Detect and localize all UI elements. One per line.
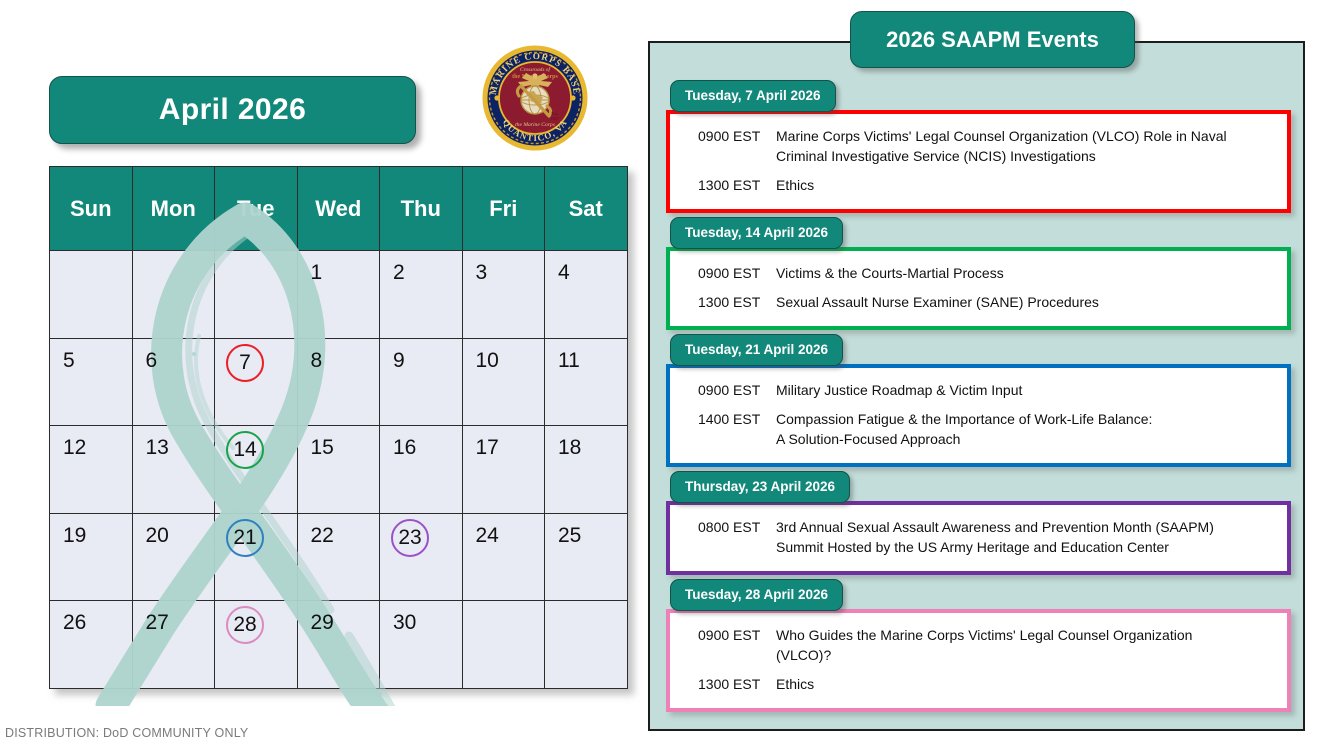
weekday-header-sun: Sun [50, 167, 133, 251]
calendar-week-row: 12131415161718 [50, 426, 628, 514]
event-description-line-2: Summit Hosted by the US Army Heritage an… [776, 537, 1271, 557]
calendar-day-cell[interactable]: 27 [132, 601, 215, 689]
event-description: Sexual Assault Nurse Examiner (SANE) Pro… [776, 292, 1277, 312]
calendar-week-row: 19202122232425 [50, 513, 628, 601]
calendar-day-cell[interactable]: 30 [380, 601, 463, 689]
event-time: 0900 EST [680, 625, 776, 645]
event-row: 0900 ESTWho Guides the Marine Corps Vict… [680, 621, 1277, 670]
calendar-day-cell[interactable]: 26 [50, 601, 133, 689]
calendar-day-number: 18 [558, 434, 581, 462]
calendar-header-row: Sun Mon Tue Wed Thu Fri Sat [50, 167, 628, 251]
event-date-chip[interactable]: Tuesday, 28 April 2026 [670, 579, 843, 611]
calendar-day-cell[interactable]: 29 [297, 601, 380, 689]
distribution-notice: DISTRIBUTION: DoD COMMUNITY ONLY [5, 726, 248, 740]
calendar-day-number: 13 [146, 434, 169, 462]
calendar-day-number: 29 [311, 609, 334, 637]
calendar-day-cell[interactable]: 17 [462, 426, 545, 514]
event-time: 0900 EST [680, 126, 776, 146]
event-row: 0900 ESTVictims & the Courts-Martial Pro… [680, 259, 1277, 288]
event-box: 0800 EST3rd Annual Sexual Assault Awaren… [666, 501, 1291, 575]
calendar-grid: Sun Mon Tue Wed Thu Fri Sat 123456789101… [49, 166, 628, 689]
event-row: 0800 EST3rd Annual Sexual Assault Awaren… [680, 513, 1277, 562]
weekday-header-mon: Mon [132, 167, 215, 251]
marine-corps-base-quantico-seal-icon: MARINE CORPS BASE QUANTICO, VA Crossroad… [479, 42, 591, 154]
event-description-line-1: 3rd Annual Sexual Assault Awareness and … [776, 519, 1214, 535]
month-title-chip: April 2026 [49, 76, 416, 144]
event-box: 0900 ESTMilitary Justice Roadmap & Victi… [666, 364, 1291, 467]
calendar-empty-cell [545, 601, 628, 689]
calendar-day-number: 11 [558, 347, 580, 375]
calendar-day-number: 20 [146, 522, 169, 550]
calendar-day-cell[interactable]: 28 [215, 601, 298, 689]
calendar-day-number: 30 [393, 609, 416, 637]
calendar-day-number: 24 [476, 522, 499, 550]
calendar-day-cell[interactable]: 4 [545, 251, 628, 339]
calendar-day-number: 5 [63, 347, 75, 375]
calendar-day-cell[interactable]: 25 [545, 513, 628, 601]
event-group: Tuesday, 14 April 20260900 ESTVictims & … [666, 217, 1291, 330]
svg-text:1917: 1917 [551, 116, 561, 121]
svg-text:the Marine Corps: the Marine Corps [515, 122, 555, 128]
calendar-day-number-highlighted: 28 [226, 606, 264, 644]
event-date-chip[interactable]: Tuesday, 7 April 2026 [670, 80, 836, 112]
event-time: 1300 EST [680, 674, 776, 694]
event-time: 1300 EST [680, 175, 776, 195]
event-date-chip[interactable]: Tuesday, 14 April 2026 [670, 217, 843, 249]
event-time: 0800 EST [680, 517, 776, 537]
calendar-week-row: 1234 [50, 251, 628, 339]
calendar-day-cell[interactable]: 16 [380, 426, 463, 514]
event-date-chip[interactable]: Tuesday, 21 April 2026 [670, 334, 843, 366]
calendar-day-cell[interactable]: 20 [132, 513, 215, 601]
calendar-day-number: 10 [476, 347, 499, 375]
calendar-day-number: 15 [311, 434, 334, 462]
weekday-header-thu: Thu [380, 167, 463, 251]
event-description-line-1: Compassion Fatigue & the Importance of W… [776, 411, 1152, 427]
event-group: Tuesday, 7 April 20260900 ESTMarine Corp… [666, 80, 1291, 213]
event-description: Marine Corps Victims' Legal Counsel Orga… [776, 126, 1277, 166]
calendar-day-cell[interactable]: 24 [462, 513, 545, 601]
calendar-day-cell[interactable]: 13 [132, 426, 215, 514]
calendar-day-number: 22 [311, 522, 334, 550]
event-box: 0900 ESTWho Guides the Marine Corps Vict… [666, 609, 1291, 712]
calendar-day-number: 3 [476, 259, 488, 287]
event-date-chip[interactable]: Thursday, 23 April 2026 [670, 471, 850, 503]
event-group: Tuesday, 28 April 20260900 ESTWho Guides… [666, 579, 1291, 712]
event-description: Who Guides the Marine Corps Victims' Leg… [776, 625, 1277, 665]
event-description: Compassion Fatigue & the Importance of W… [776, 409, 1277, 449]
event-description: Ethics [776, 175, 1277, 195]
calendar-day-number-highlighted: 21 [226, 519, 264, 557]
calendar-day-cell[interactable]: 3 [462, 251, 545, 339]
event-row: 1300 ESTEthics [680, 670, 1277, 699]
calendar-day-cell[interactable]: 7 [215, 338, 298, 426]
weekday-header-tue: Tue [215, 167, 298, 251]
calendar-day-cell[interactable]: 23 [380, 513, 463, 601]
calendar-day-number: 2 [393, 259, 405, 287]
weekday-header-wed: Wed [297, 167, 380, 251]
weekday-header-sat: Sat [545, 167, 628, 251]
calendar-day-number: 9 [393, 347, 405, 375]
event-description-line-1: Ethics [776, 676, 814, 692]
event-group: Thursday, 23 April 20260800 EST3rd Annua… [666, 471, 1291, 575]
svg-text:Crossroads of: Crossroads of [520, 66, 552, 73]
weekday-header-fri: Fri [462, 167, 545, 251]
event-description-line-1: Marine Corps Victims' Legal Counsel Orga… [776, 128, 1227, 144]
calendar-empty-cell [50, 251, 133, 339]
event-row: 0900 ESTMilitary Justice Roadmap & Victi… [680, 376, 1277, 405]
event-time: 1300 EST [680, 292, 776, 312]
calendar-day-cell[interactable]: 2 [380, 251, 463, 339]
event-description-line-2: (VLCO)? [776, 645, 1271, 665]
event-time: 1400 EST [680, 409, 776, 429]
calendar-week-row: 567891011 [50, 338, 628, 426]
calendar-day-cell[interactable]: 6 [132, 338, 215, 426]
event-time: 0900 EST [680, 263, 776, 283]
calendar-day-number: 16 [393, 434, 416, 462]
calendar-day-cell[interactable]: 15 [297, 426, 380, 514]
events-list: Tuesday, 7 April 20260900 ESTMarine Corp… [650, 43, 1307, 726]
event-row: 1300 ESTSexual Assault Nurse Examiner (S… [680, 288, 1277, 317]
calendar-day-number: 19 [63, 522, 86, 550]
event-description: 3rd Annual Sexual Assault Awareness and … [776, 517, 1277, 557]
calendar-empty-cell [132, 251, 215, 339]
calendar-day-cell[interactable]: 18 [545, 426, 628, 514]
calendar-day-number: 6 [146, 347, 158, 375]
events-panel: Tuesday, 7 April 20260900 ESTMarine Corp… [648, 41, 1305, 731]
event-description-line-1: Ethics [776, 177, 814, 193]
event-description-line-1: Who Guides the Marine Corps Victims' Leg… [776, 627, 1192, 643]
calendar-day-number: 26 [63, 609, 86, 637]
calendar-day-cell[interactable]: 5 [50, 338, 133, 426]
calendar-day-number: 1 [311, 259, 323, 287]
calendar-day-number-highlighted: 14 [226, 431, 264, 469]
calendar-empty-cell [462, 601, 545, 689]
event-description: Ethics [776, 674, 1277, 694]
calendar-day-cell[interactable]: 19 [50, 513, 133, 601]
event-row: 1400 ESTCompassion Fatigue & the Importa… [680, 405, 1277, 454]
month-title-label: April 2026 [159, 93, 306, 127]
calendar-day-cell[interactable]: 8 [297, 338, 380, 426]
event-row: 1300 ESTEthics [680, 171, 1277, 200]
calendar-day-number-highlighted: 23 [391, 519, 429, 557]
calendar-day-number: 4 [558, 259, 570, 287]
calendar-empty-cell [215, 251, 298, 339]
calendar-pane: April 2026 MARINE CORPS BASE QUANTICO, V… [0, 0, 645, 750]
event-description-line-1: Victims & the Courts-Martial Process [776, 265, 1004, 281]
event-group: Tuesday, 21 April 20260900 ESTMilitary J… [666, 334, 1291, 467]
calendar-body: 1234567891011121314151617181920212223242… [50, 251, 628, 689]
calendar-day-cell[interactable]: 11 [545, 338, 628, 426]
calendar-week-row: 2627282930 [50, 601, 628, 689]
calendar-day-cell[interactable]: 14 [215, 426, 298, 514]
calendar-day-cell[interactable]: 9 [380, 338, 463, 426]
event-box: 0900 ESTVictims & the Courts-Martial Pro… [666, 247, 1291, 330]
calendar-day-number: 17 [476, 434, 499, 462]
event-description: Military Justice Roadmap & Victim Input [776, 380, 1277, 400]
event-description: Victims & the Courts-Martial Process [776, 263, 1277, 283]
calendar-day-number: 27 [146, 609, 169, 637]
calendar-day-number-highlighted: 7 [226, 344, 264, 382]
event-row: 0900 ESTMarine Corps Victims' Legal Coun… [680, 122, 1277, 171]
event-description-line-2: A Solution-Focused Approach [776, 429, 1271, 449]
event-description-line-1: Military Justice Roadmap & Victim Input [776, 382, 1022, 398]
calendar-day-cell[interactable]: 10 [462, 338, 545, 426]
calendar-day-number: 12 [63, 434, 86, 462]
events-panel-title-chip: 2026 SAAPM Events [850, 11, 1135, 68]
calendar-day-number: 25 [558, 522, 581, 550]
calendar-day-number: 8 [311, 347, 323, 375]
event-time: 0900 EST [680, 380, 776, 400]
event-description-line-1: Sexual Assault Nurse Examiner (SANE) Pro… [776, 294, 1099, 310]
calendar-day-cell[interactable]: 1 [297, 251, 380, 339]
events-panel-title-label: 2026 SAAPM Events [886, 27, 1099, 53]
event-box: 0900 ESTMarine Corps Victims' Legal Coun… [666, 110, 1291, 213]
calendar-day-cell[interactable]: 12 [50, 426, 133, 514]
calendar-day-cell[interactable]: 22 [297, 513, 380, 601]
event-description-line-2: Criminal Investigative Service (NCIS) In… [776, 146, 1271, 166]
calendar-day-cell[interactable]: 21 [215, 513, 298, 601]
